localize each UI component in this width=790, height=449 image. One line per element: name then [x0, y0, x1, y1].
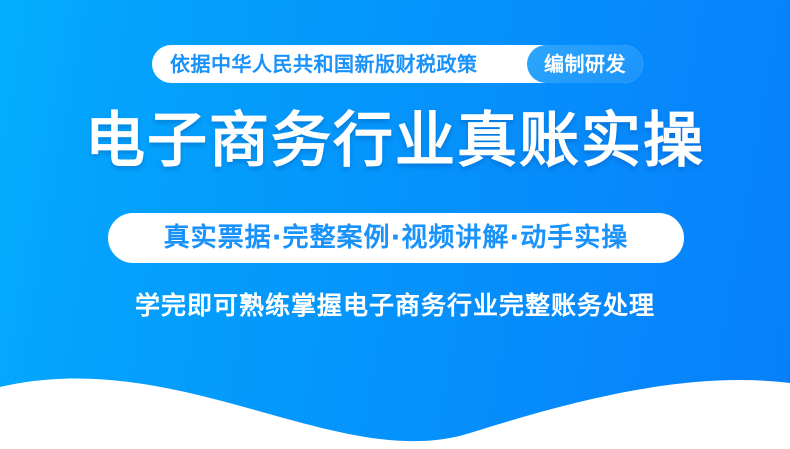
feature-list-pill: 真实票据·完整案例·视频讲解·动手实操 — [108, 213, 684, 263]
policy-badge-chip: 编制研发 — [527, 45, 643, 83]
policy-badge-label: 依据中华人民共和国新版财税政策 — [170, 54, 478, 74]
banner-main-title: 电子商务行业真账实操 — [0, 107, 790, 176]
policy-badge: 依据中华人民共和国新版财税政策 编制研发 — [152, 45, 643, 83]
banner-tagline: 学完即可熟练掌握电子商务行业完整账务处理 — [0, 291, 790, 321]
feature-list-label: 真实票据·完整案例·视频讲解·动手实操 — [164, 225, 629, 251]
promo-banner: 依据中华人民共和国新版财税政策 编制研发 电子商务行业真账实操 真实票据·完整案… — [0, 0, 790, 449]
policy-badge-chip-label: 编制研发 — [544, 54, 626, 74]
